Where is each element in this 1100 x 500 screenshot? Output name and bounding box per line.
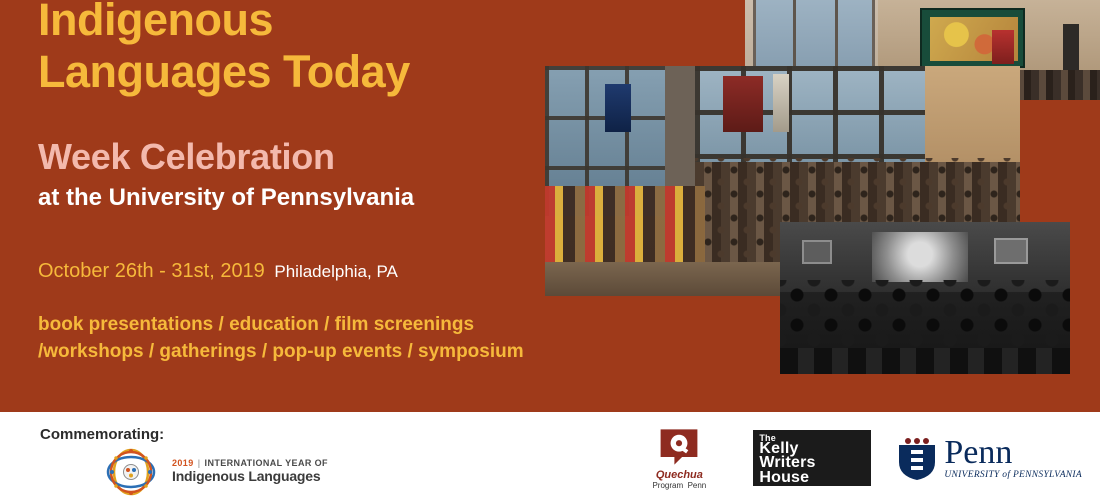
presentation-screen [872, 232, 968, 282]
quechua-q-icon [656, 426, 702, 468]
footer-bar: Commemorating: [0, 412, 1100, 500]
loudspeaker [1063, 24, 1079, 70]
kwh-line-4: House [759, 470, 865, 486]
subtitle-secondary: at the University of Pennsylvania [38, 184, 558, 212]
penn-tagline: UNIVERSITY of PENNSYLVANIA [944, 471, 1082, 481]
date-row: October 26th - 31st, 2019 Philadelphia, … [38, 260, 558, 283]
banner-blue [605, 84, 631, 132]
photo-dark-room-presentation [780, 222, 1070, 374]
poster-canvas: Indigenous Languages Today Week Celebrat… [0, 0, 1100, 500]
iyil-separator: | [198, 458, 201, 468]
sponsor-logos: Quechua Program  Penn The Kelly Writers… [631, 426, 1082, 490]
event-types-line-2: /workshops / gatherings / pop-up events … [38, 338, 558, 366]
iyil-kicker: INTERNATIONAL YEAR OF [205, 458, 328, 468]
commemorating-label: Commemorating: [40, 426, 164, 443]
banner-red [723, 76, 763, 132]
title-line-2: Languages Today [38, 46, 558, 98]
kelly-writers-house-logo[interactable]: The Kelly Writers House [753, 430, 871, 486]
iyil-emblem-icon [100, 448, 162, 496]
banner-white [773, 74, 789, 132]
quechua-subtitle: Program  Penn [631, 481, 727, 490]
subtitle: Week Celebration [38, 136, 558, 178]
wall-artwork [802, 240, 832, 264]
penn-wordmark: Penn UNIVERSITY of PENNSYLVANIA [944, 436, 1082, 481]
photo-collage [540, 0, 1100, 410]
page-title: Indigenous Languages Today [38, 0, 558, 98]
iyil-wordmark: 2019|INTERNATIONAL YEAR OF Indigenous La… [172, 459, 328, 484]
iyil-logo: 2019|INTERNATIONAL YEAR OF Indigenous La… [100, 448, 328, 496]
quechua-program-logo[interactable]: Quechua Program  Penn [631, 426, 727, 490]
title-line-1: Indigenous [38, 0, 558, 46]
event-types-line-1: book presentations / education / film sc… [38, 311, 558, 339]
penn-logo[interactable]: Penn UNIVERSITY of PENNSYLVANIA [897, 434, 1082, 482]
quechua-title: Quechua [631, 469, 727, 481]
penn-shield-icon [897, 434, 937, 482]
iyil-name: Indigenous Languages [172, 469, 328, 484]
chair-row [780, 348, 1070, 374]
penn-name: Penn [944, 436, 1082, 470]
event-city: Philadelphia, PA [274, 262, 398, 281]
hanging-banner [992, 30, 1014, 64]
event-dates: October 26th - 31st, 2019 [38, 260, 265, 282]
wall-artwork [994, 238, 1028, 264]
iyil-year: 2019 [172, 458, 194, 468]
headline-block: Indigenous Languages Today Week Celebrat… [38, 0, 558, 366]
event-types: book presentations / education / film sc… [38, 311, 558, 366]
kwh-wordmark: The Kelly Writers House [753, 430, 871, 486]
